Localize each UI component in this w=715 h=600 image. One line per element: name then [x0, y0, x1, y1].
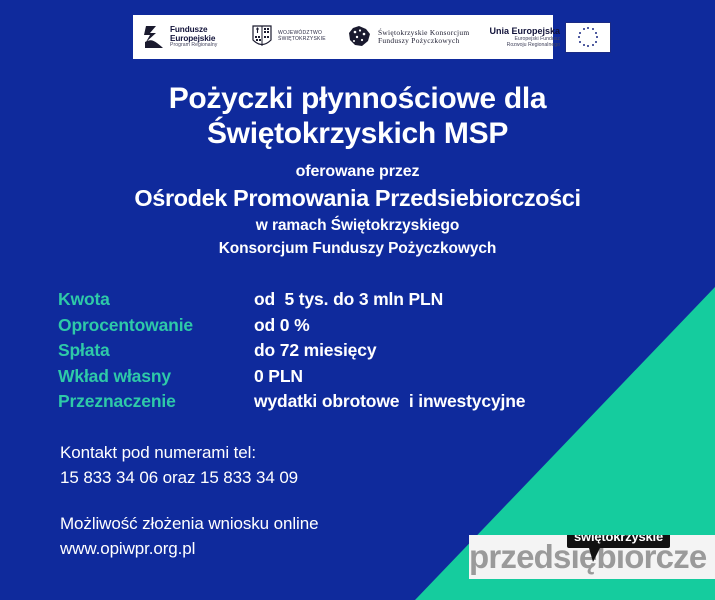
subtitle-block: oferowane przez Ośrodek Promowania Przed…	[0, 162, 715, 260]
badge-bubble-swietokrzyskie: świętokrzyskie	[567, 535, 670, 548]
spec-row: Wkład własny 0 PLN	[58, 366, 525, 392]
eu-star-icon	[592, 44, 594, 46]
loan-terms-list: Kwota od 5 tys. do 3 mln PLN Oprocentowa…	[58, 289, 525, 417]
website-url[interactable]: www.opiwpr.org.pl	[60, 536, 318, 561]
konsorcjum-text: Świętokrzyskie Konsorcjum Funduszy Pożyc…	[378, 29, 469, 46]
spec-label-wklad-wlasny: Wkład własny	[58, 366, 254, 387]
offered-by-label: oferowane przez	[0, 162, 715, 182]
fe-line3: Program Regionalny	[170, 43, 217, 49]
spec-value-kwota: od 5 tys. do 3 mln PLN	[254, 289, 443, 310]
spec-value-splata: do 72 miesięcy	[254, 340, 376, 361]
unia-europejska-text: Unia Europejska Europejski Fundusz Rozwo…	[489, 26, 560, 48]
eu-star-icon	[579, 32, 581, 34]
eu-star-icon	[579, 41, 581, 43]
spec-row: Kwota od 5 tys. do 3 mln PLN	[58, 289, 525, 315]
spec-label-splata: Spłata	[58, 340, 254, 361]
eu-star-icon	[596, 36, 598, 38]
headline-line-1: Pożyczki płynnościowe dla	[0, 82, 715, 117]
logo-swietokrzyskie-konsorcjum: Świętokrzyskie Konsorcjum Funduszy Pożyc…	[347, 15, 473, 59]
fundusze-europejskie-logo-icon	[143, 24, 165, 50]
eu-star-icon	[578, 36, 580, 38]
swietokrzyskie-przedsiebiorcze-badge: przedsiębiorcze świętokrzyskie	[469, 535, 715, 579]
ue-line1: Unia Europejska	[489, 26, 560, 36]
framework-line-2: Konsorcjum Funduszy Pożyczkowych	[0, 239, 715, 259]
contact-phone-numbers: 15 833 34 06 oraz 15 833 34 09	[60, 465, 318, 490]
badge-bubble-tail-icon	[589, 548, 600, 562]
woj-line2: ŚWIĘTOKRZYSKIE	[278, 37, 326, 43]
headline-line-2: Świętokrzyskich MSP	[0, 117, 715, 152]
spec-label-oprocentowanie: Oprocentowanie	[58, 315, 254, 336]
logo-wojewodztwo-swietokrzyskie: WOJEWÓDZTWO ŚWIĘTOKRZYSKIE	[251, 15, 347, 59]
contact-phones-heading: Kontakt pod numerami tel:	[60, 440, 318, 465]
spec-row: Przeznaczenie wydatki obrotowe i inwesty…	[58, 391, 525, 417]
eu-star-icon	[592, 28, 594, 30]
online-application-note: Możliwość złożenia wniosku online	[60, 511, 318, 536]
spec-row: Spłata do 72 miesięcy	[58, 340, 525, 366]
contact-spacer	[60, 490, 318, 511]
poster-root: Fundusze Europejskie Program Regionalny	[0, 0, 715, 600]
eu-star-icon	[587, 45, 589, 47]
eu-star-icon	[587, 27, 589, 29]
eu-star-icon	[595, 41, 597, 43]
partner-logo-bar: Fundusze Europejskie Program Regionalny	[133, 15, 553, 59]
spec-value-przeznaczenie: wydatki obrotowe i inwestycyjne	[254, 391, 525, 412]
skfp-line2: Funduszy Pożyczkowych	[378, 37, 469, 45]
fundusze-europejskie-text: Fundusze Europejskie Program Regionalny	[170, 25, 217, 49]
wojewodztwo-swietokrzyskie-crest-icon	[251, 24, 273, 50]
swietokrzyskie-konsorcjum-map-logo-icon	[347, 24, 373, 50]
contact-block: Kontakt pod numerami tel: 15 833 34 06 o…	[60, 440, 318, 562]
framework-line-1: w ramach Świętokrzyskiego	[0, 216, 715, 236]
eu-star-icon	[583, 28, 585, 30]
spec-label-przeznaczenie: Przeznaczenie	[58, 391, 254, 412]
eu-star-icon	[583, 44, 585, 46]
ue-line3: Rozwoju Regionalnego	[489, 42, 560, 48]
logo-unia-europejska: Unia Europejska Europejski Fundusz Rozwo…	[473, 15, 613, 59]
page-title: Pożyczki płynnościowe dla Świętokrzyskic…	[0, 82, 715, 152]
logo-fundusze-europejskie: Fundusze Europejskie Program Regionalny	[139, 15, 251, 59]
organization-name: Ośrodek Promowania Przedsiebiorczości	[0, 184, 715, 213]
spec-row: Oprocentowanie od 0 %	[58, 315, 525, 341]
eu-star-icon	[595, 32, 597, 34]
spec-value-wklad-wlasny: 0 PLN	[254, 366, 303, 387]
spec-label-kwota: Kwota	[58, 289, 254, 310]
wojewodztwo-text: WOJEWÓDZTWO ŚWIĘTOKRZYSKIE	[278, 31, 326, 42]
eu-flag-icon	[565, 22, 611, 53]
spec-value-oprocentowanie: od 0 %	[254, 315, 310, 336]
fe-line1: Fundusze	[170, 25, 217, 34]
